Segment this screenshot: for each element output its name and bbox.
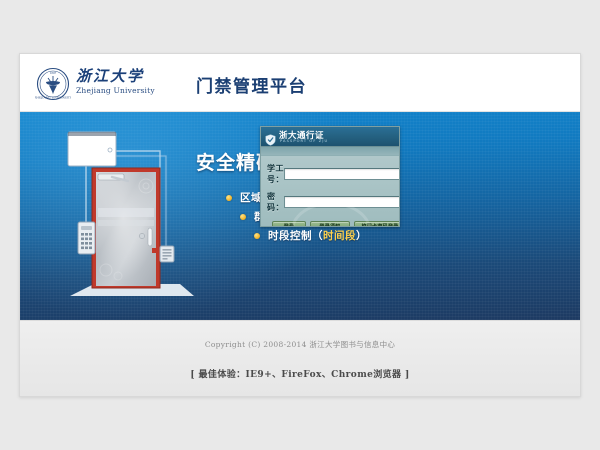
login-panel-subtitle: PASSPORT OF ZJU — [280, 139, 328, 143]
hero-banner: 安全精确 门禁控制 区域控制（工作区） 群组控制（权限组） 时段控制（时间段） — [20, 112, 580, 320]
feature-label: 时段控制（时间段） — [268, 228, 367, 243]
username-input[interactable] — [284, 168, 400, 180]
page-title: 门禁管理平台 — [196, 72, 307, 97]
site-footer: Copyright (C) 2008-2014 浙江大学图书与信息中心 [ 最佳… — [20, 320, 580, 397]
logo-wordmark: 浙江大学 Zhejiang University — [76, 68, 168, 100]
svg-text:ZHEJIANG UNIVERSITY: ZHEJIANG UNIVERSITY — [35, 95, 71, 99]
login-panel: 浙大通行证 PASSPORT OF ZJU PASSPORT OF ZJUPAS… — [260, 126, 400, 227]
shield-icon — [265, 131, 276, 143]
bullet-dot-icon — [254, 233, 260, 239]
login-button-row: 登录 登录须知 校园卡密码登录 — [267, 219, 393, 227]
page-root: ZHEJIANG UNIVERSITY 1897 浙江大学 Zhejiang U… — [0, 0, 600, 450]
password-row: 密 码： — [267, 191, 393, 213]
campus-card-login-button[interactable]: 校园卡密码登录 — [354, 221, 400, 227]
login-panel-header: 浙大通行证 PASSPORT OF ZJU — [261, 127, 399, 147]
login-notice-button[interactable]: 登录须知 — [310, 221, 350, 227]
site-header: ZHEJIANG UNIVERSITY 1897 浙江大学 Zhejiang U… — [20, 54, 580, 112]
zju-emblem-icon: ZHEJIANG UNIVERSITY 1897 — [35, 67, 71, 101]
copyright-text: Copyright (C) 2008-2014 浙江大学图书与信息中心 — [20, 321, 580, 350]
svg-text:1897: 1897 — [50, 71, 57, 75]
username-row: 学工号： — [267, 163, 393, 185]
bullet-dot-icon — [226, 195, 232, 201]
password-label: 密 码： — [267, 191, 284, 213]
list-item: 时段控制（时间段） — [196, 228, 426, 243]
access-control-door-illustration — [48, 124, 198, 314]
passport-watermark-strip: PASSPORT OF ZJUPASSPORT OF ZJUPASSPORT O… — [261, 147, 399, 156]
login-button[interactable]: 登录 — [272, 221, 306, 227]
logo-cn-text: 浙江大学 — [76, 68, 168, 85]
app-card: ZHEJIANG UNIVERSITY 1897 浙江大学 Zhejiang U… — [19, 53, 581, 397]
login-form: 学工号： 密 码： 登录 登录须知 校园卡密码登录 — [261, 156, 399, 227]
bullet-dot-icon — [240, 214, 246, 220]
password-input[interactable] — [284, 196, 400, 208]
logo-en-text: Zhejiang University — [76, 86, 168, 96]
browser-support-text: [ 最佳体验：IE9+、FireFox、Chrome浏览器 ] — [20, 350, 580, 380]
username-label: 学工号： — [267, 163, 284, 185]
